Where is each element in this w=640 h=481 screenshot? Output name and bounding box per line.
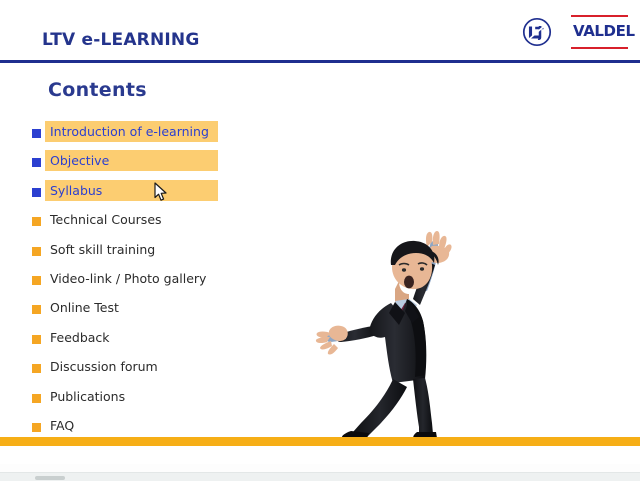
contents-bullet-icon [32, 423, 41, 432]
viewer-chrome-handle[interactable] [35, 476, 65, 480]
contents-item[interactable]: Video-link / Photo gallery [0, 267, 330, 296]
slide-canvas: LTV e-LEARNING VALDEL Contents Introduct… [0, 0, 640, 464]
contents-item-label: Syllabus [50, 183, 102, 198]
contents-bullet-icon [32, 217, 41, 226]
contents-bullet-active-icon [32, 158, 41, 167]
contents-bullet-active-icon [32, 129, 41, 138]
presenter-photo [313, 227, 459, 442]
logo-accent-rule-top [571, 15, 628, 17]
contents-item[interactable]: Feedback [0, 326, 330, 355]
contents-item[interactable]: Technical Courses [0, 208, 330, 237]
logo-wordmark: VALDEL [573, 22, 635, 40]
contents-item[interactable]: Publications [0, 385, 330, 414]
lt-monogram-icon [522, 17, 552, 47]
contents-bullet-icon [32, 276, 41, 285]
contents-item-label: Objective [50, 153, 109, 168]
contents-item-label: Publications [50, 389, 125, 404]
contents-item-label: Soft skill training [50, 242, 155, 257]
contents-item-label: Technical Courses [50, 212, 162, 227]
contents-item[interactable]: Soft skill training [0, 238, 330, 267]
contents-bullet-active-icon [32, 188, 41, 197]
viewer-chrome [0, 464, 640, 480]
contents-item[interactable]: Syllabus [0, 179, 330, 208]
contents-bullet-icon [32, 364, 41, 373]
contents-list: Introduction of e-learningObjectiveSylla… [0, 120, 330, 443]
contents-item[interactable]: Discussion forum [0, 355, 330, 384]
contents-bullet-icon [32, 247, 41, 256]
logo-accent-rule-bottom [571, 47, 628, 49]
contents-bullet-icon [32, 305, 41, 314]
brand-logo: VALDEL [516, 13, 628, 51]
contents-bullet-icon [32, 394, 41, 403]
contents-item-label: Discussion forum [50, 359, 158, 374]
contents-item-label: FAQ [50, 418, 74, 433]
contents-item-label: Introduction of e-learning [50, 124, 209, 139]
contents-item-label: Online Test [50, 300, 119, 315]
contents-item-label: Feedback [50, 330, 110, 345]
footer-accent-bar [0, 437, 640, 446]
header-divider [0, 60, 640, 63]
contents-bullet-icon [32, 335, 41, 344]
page-title: LTV e-LEARNING [42, 30, 200, 50]
slide-header: LTV e-LEARNING VALDEL [0, 0, 640, 60]
contents-item[interactable]: Objective [0, 149, 330, 178]
contents-item[interactable]: Online Test [0, 296, 330, 325]
contents-heading: Contents [48, 79, 147, 101]
contents-item-label: Video-link / Photo gallery [50, 271, 206, 286]
contents-item[interactable]: Introduction of e-learning [0, 120, 330, 149]
